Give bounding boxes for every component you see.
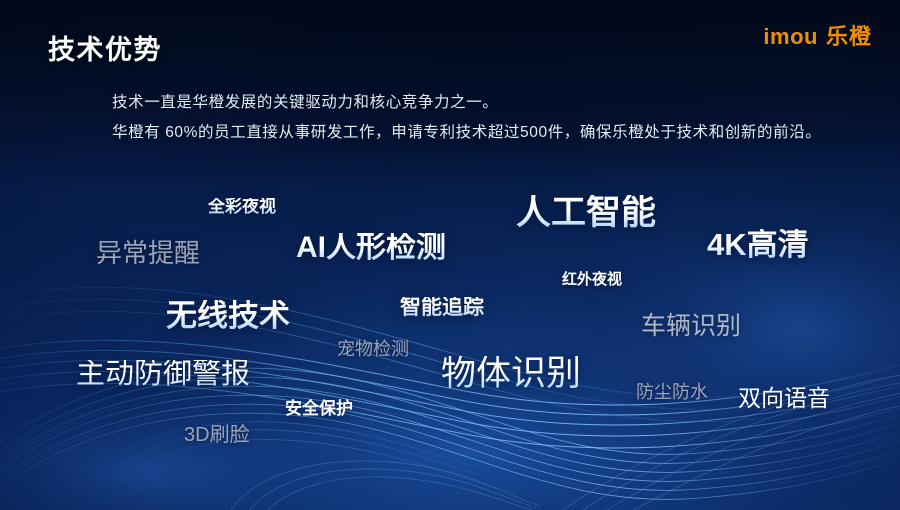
word-cloud-item: 双向语音 <box>738 387 830 410</box>
word-cloud-item: 人工智能 <box>516 195 656 230</box>
word-cloud-item: 宠物检测 <box>337 340 409 358</box>
word-cloud-item: 4K高清 <box>707 229 809 260</box>
word-cloud-item: 防尘防水 <box>636 383 708 401</box>
slide-root: 技术优势 imou 乐橙 技术一直是华橙发展的关键驱动力和核心竞争力之一。 华橙… <box>0 0 900 510</box>
word-cloud-item: 安全保护 <box>285 400 353 417</box>
word-cloud-item: AI人形检测 <box>296 233 446 263</box>
word-cloud-item: 智能追踪 <box>400 297 484 318</box>
word-cloud-item: 主动防御警报 <box>76 360 250 389</box>
word-cloud-item: 无线技术 <box>166 300 290 331</box>
word-cloud-item: 全彩夜视 <box>208 198 276 215</box>
word-cloud-item: 红外夜视 <box>562 272 622 287</box>
word-cloud-item: 物体识别 <box>441 356 581 391</box>
word-cloud-item: 异常提醒 <box>96 240 200 266</box>
word-cloud-item: 车辆识别 <box>641 314 741 339</box>
word-cloud-item: 3D刷脸 <box>184 425 250 445</box>
technology-word-cloud: 全彩夜视异常提醒AI人形检测人工智能4K高清红外夜视无线技术智能追踪车辆识别宠物… <box>0 0 900 510</box>
